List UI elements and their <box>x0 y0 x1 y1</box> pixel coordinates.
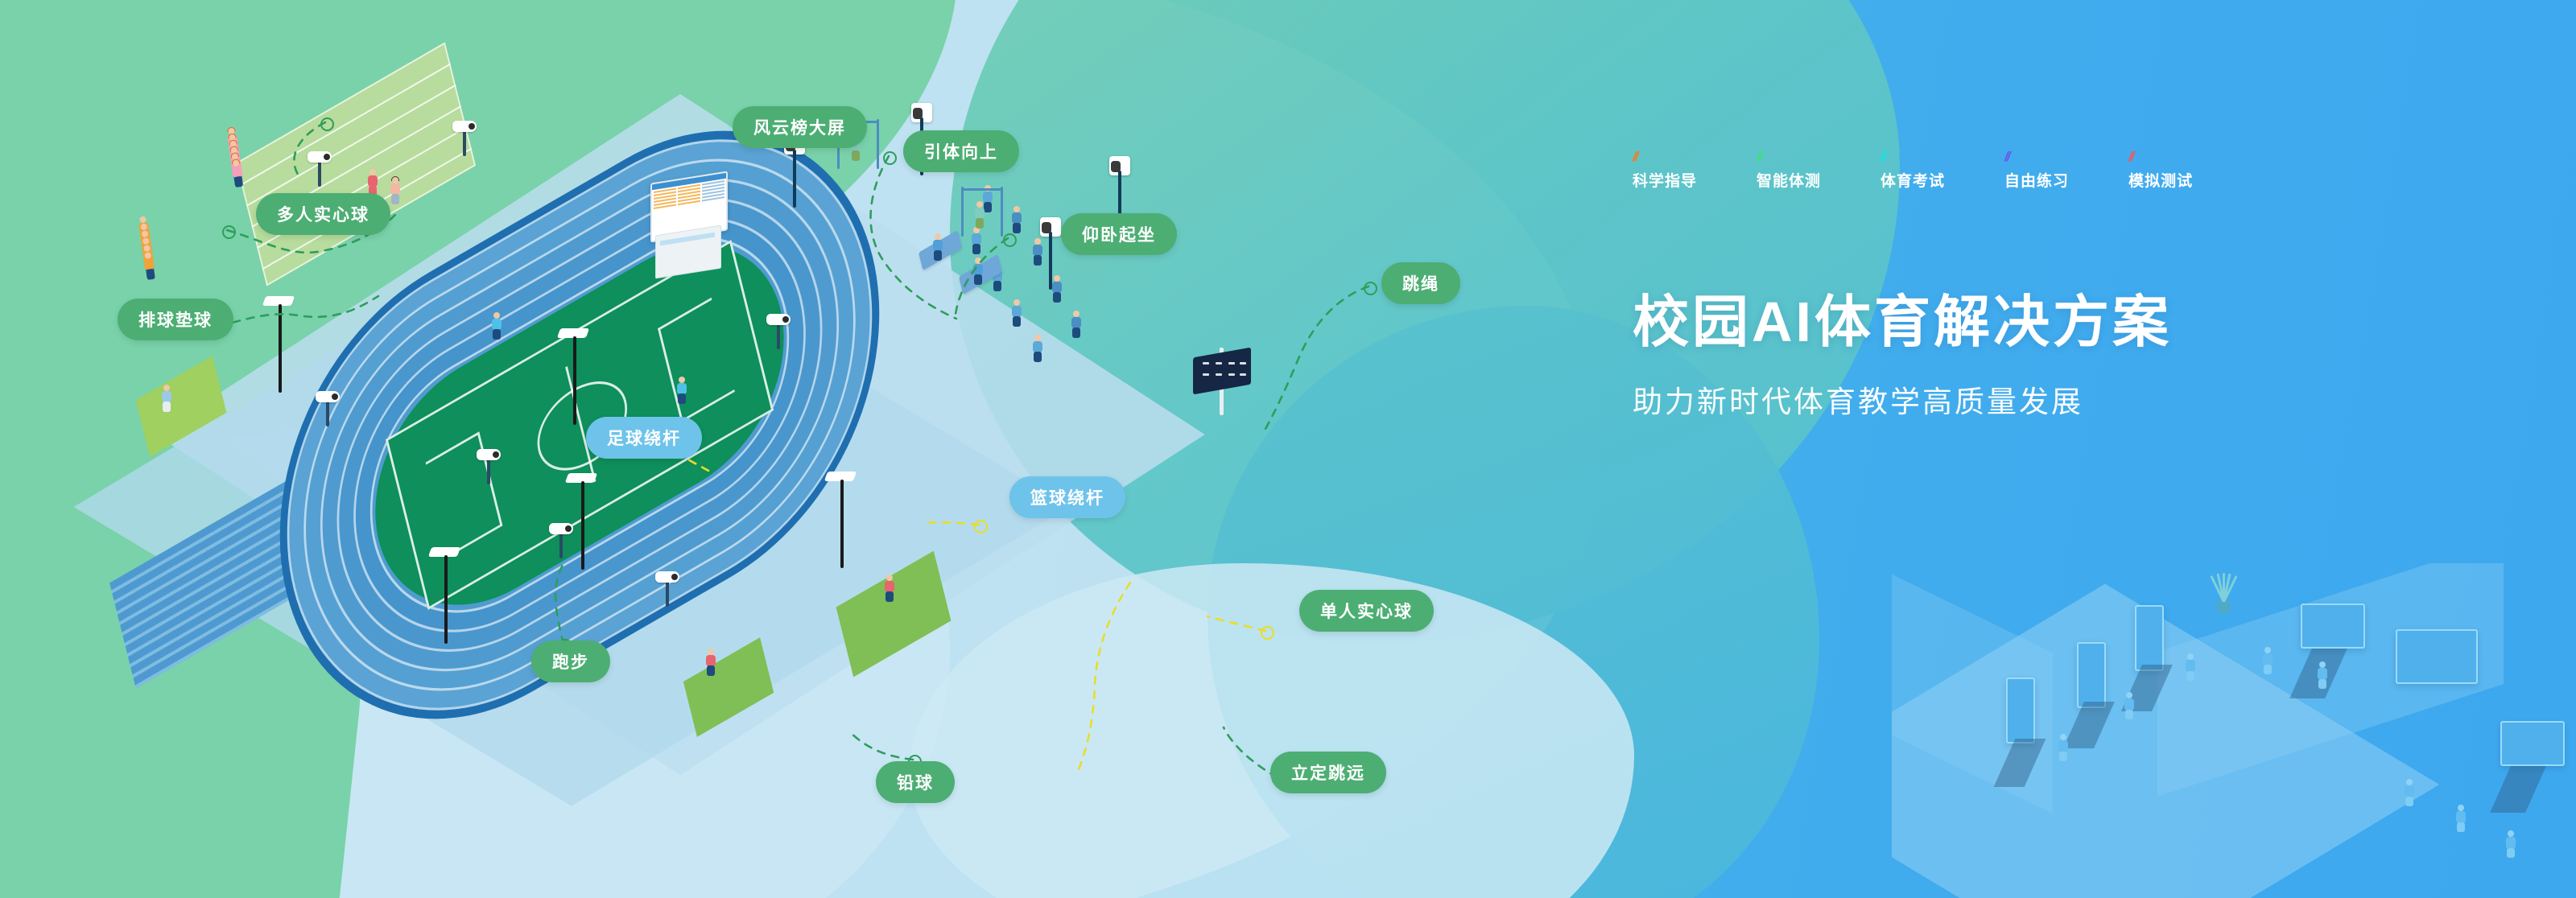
shot-put-athlete <box>161 385 172 412</box>
connector-node-single-shot <box>1261 626 1274 640</box>
field-lamp-1 <box>275 296 285 393</box>
indoor-gym-illustration <box>1892 563 2576 898</box>
gym-person-football-1 <box>2058 734 2069 761</box>
security-camera-2 <box>451 119 478 156</box>
football-player <box>491 312 502 340</box>
label-rope-skipping[interactable]: 跳绳 <box>1381 262 1460 304</box>
pull-up-athlete-2 <box>974 201 985 229</box>
security-camera-4 <box>475 447 502 484</box>
gym-person-football-3 <box>2185 653 2196 681</box>
hero-copy: // 科学指导 // 智能体测 // 体育考试 // 自由练习 // 模拟测试 … <box>1633 150 2438 421</box>
feature-tag-scientific-guidance[interactable]: // 科学指导 <box>1633 150 1697 191</box>
slash-icon-3: // <box>1880 150 1945 163</box>
feature-tag-label-4: 自由练习 <box>2004 169 2069 191</box>
connector-node-multi-shot <box>222 225 236 239</box>
label-standing-long-jump[interactable]: 立定跳远 <box>1270 752 1386 793</box>
rope-skipper-7 <box>1011 299 1022 327</box>
gym-kiosk-3 <box>2135 605 2164 671</box>
label-running[interactable]: 跑步 <box>531 641 610 682</box>
label-shot-put[interactable]: 铅球 <box>876 761 955 803</box>
label-basketball-slalom[interactable]: 篮球绕杆 <box>1009 476 1125 518</box>
feature-tag-label-2: 智能体测 <box>1757 169 1821 191</box>
field-lamp-2 <box>578 473 588 570</box>
feature-tag-smart-fitness-test[interactable]: // 智能体测 <box>1757 150 1821 191</box>
sit-up-athlete-2 <box>972 257 984 285</box>
label-pull-up[interactable]: 引体向上 <box>903 130 1019 172</box>
slash-icon-1: // <box>1633 150 1697 163</box>
gym-display-1 <box>2301 603 2365 649</box>
security-camera-5 <box>314 389 341 426</box>
scoreboard <box>1193 352 1251 389</box>
field-lamp-5 <box>570 328 580 425</box>
feature-tag-pe-exam[interactable]: // 体育考试 <box>1880 150 1945 191</box>
label-multi-shot-put[interactable]: 多人实心球 <box>256 193 390 235</box>
label-single-shot-put[interactable]: 单人实心球 <box>1299 590 1434 632</box>
security-camera-3 <box>765 312 792 349</box>
field-lamp-3 <box>441 547 451 644</box>
gym-display-shadow-2 <box>2490 766 2546 813</box>
feature-tag-row: // 科学指导 // 智能体测 // 体育考试 // 自由练习 // 模拟测试 <box>1633 150 2438 191</box>
slash-icon-5: // <box>2128 150 2193 163</box>
feature-tag-free-practice[interactable]: // 自由练习 <box>2004 150 2069 191</box>
feature-tag-label-5: 模拟测试 <box>2128 169 2193 191</box>
feature-tag-mock-test[interactable]: // 模拟测试 <box>2128 150 2193 191</box>
connector-node-leaderboard <box>320 117 334 131</box>
label-leaderboard-screen[interactable]: 风云榜大屏 <box>733 106 867 148</box>
security-camera-1 <box>306 150 333 187</box>
rope-skipper-2 <box>1011 206 1022 233</box>
rope-skipper-9 <box>1032 335 1043 362</box>
gym-person-football-2 <box>2124 692 2135 719</box>
feature-tag-label-1: 科学指导 <box>1633 169 1697 191</box>
stadium-illustration <box>338 97 1328 772</box>
gym-person-jumping-2 <box>2317 661 2328 689</box>
gym-person-rope-1 <box>2404 779 2415 806</box>
field-lamp-4 <box>837 472 847 568</box>
gym-person-rope-3 <box>2505 830 2516 858</box>
feature-tag-label-3: 体育考试 <box>1880 169 1945 191</box>
gym-plant <box>2207 566 2240 613</box>
label-football-slalom[interactable]: 足球绕杆 <box>586 417 702 459</box>
hero-banner: 排球垫球 多人实心球 风云榜大屏 引体向上 仰卧起坐 跳绳 跑步 铅球 立定跳远… <box>0 0 2576 898</box>
connector-node-situp <box>1003 233 1017 247</box>
gym-person-jumping-1 <box>2262 647 2273 674</box>
gym-display-2 <box>2500 721 2565 766</box>
gym-person-rope-2 <box>2455 805 2467 832</box>
security-camera-7 <box>654 570 681 607</box>
camera-post-4 <box>1045 217 1056 290</box>
slash-icon-4: // <box>2004 150 2069 163</box>
rope-skipper-8 <box>1071 311 1082 338</box>
shot-put-athlete-2 <box>705 649 716 676</box>
leaderboard-kiosk <box>650 177 728 274</box>
runner-2 <box>390 177 401 204</box>
page-title: 校园AI体育解决方案 <box>1633 292 2438 353</box>
gym-kiosk-1 <box>2006 678 2035 744</box>
connector-node-pullup <box>883 151 897 165</box>
connector-node-basketball <box>974 520 988 533</box>
gym-dashboard <box>2396 629 2478 684</box>
long-jump-athlete <box>884 575 895 602</box>
runner-1 <box>367 169 378 196</box>
label-volleyball-pass[interactable]: 排球垫球 <box>118 299 233 340</box>
gym-kiosk-2 <box>2077 642 2106 708</box>
connector-node-rope <box>1364 282 1377 295</box>
slash-icon-2: // <box>1757 150 1821 163</box>
security-camera-6 <box>547 521 575 558</box>
sit-up-athlete-1 <box>932 233 943 261</box>
label-sit-up[interactable]: 仰卧起坐 <box>1061 213 1177 255</box>
page-subtitle: 助力新时代体育教学高质量发展 <box>1633 377 2438 421</box>
basketball-player <box>676 377 687 404</box>
rope-skipper-4 <box>1032 238 1043 266</box>
